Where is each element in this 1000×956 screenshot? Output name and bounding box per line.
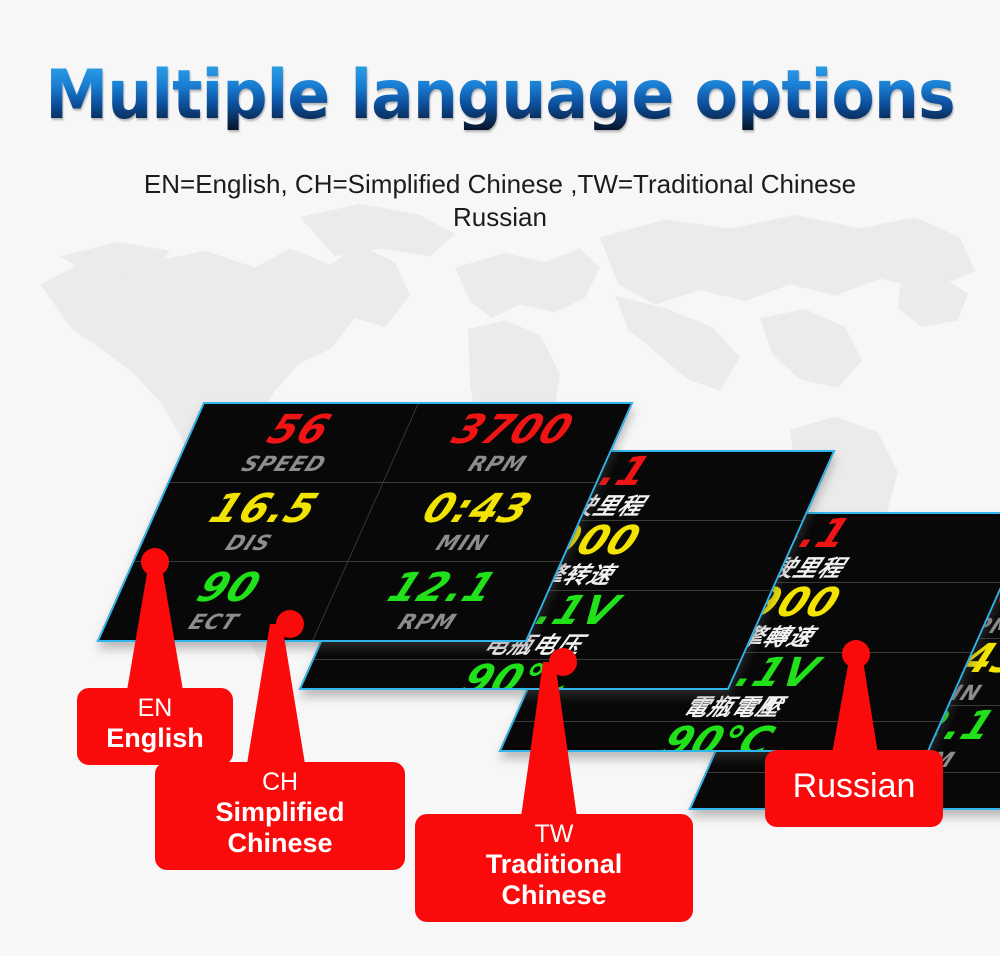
hud-label: RPM (464, 452, 530, 476)
callout-bubble-traditional-chinese[interactable]: TW Traditional Chinese (415, 814, 693, 922)
hud-cell: 0:43MIN (348, 483, 595, 561)
hud-value: 3700 (446, 410, 579, 450)
callout-name-russian: Russian (775, 762, 933, 811)
hud-value: 56 (261, 410, 336, 450)
hud-row: 56SPEED3700RPM (169, 404, 630, 483)
callout-pointer-russian (770, 654, 950, 754)
hud-value: 0:43 (417, 489, 538, 529)
hud-cell: 56SPEED (170, 404, 418, 482)
hud-value: 16.5 (204, 489, 325, 529)
hud-label: MIN (432, 531, 492, 555)
hud-cell: 16.5DIS (135, 483, 383, 561)
callout-name-simplified-chinese: Simplified Chinese (171, 797, 389, 859)
hud-label: SPEED (238, 452, 330, 476)
hud-cell: 3700RPM (383, 404, 630, 482)
callout-pointer-traditional-chinese (425, 662, 705, 817)
hud-row: 16.5DIS0:43MIN (134, 483, 595, 562)
callout-code-traditional-chinese: TW (431, 821, 677, 849)
callout-bubble-simplified-chinese[interactable]: CH Simplified Chinese (155, 762, 405, 870)
callout-code-simplified-chinese: CH (171, 769, 389, 797)
callout-pointer-simplified-chinese (165, 624, 425, 764)
hud-value: 12.1 (382, 568, 503, 608)
hud-label: DIS (222, 531, 276, 555)
callout-name-traditional-chinese: Traditional Chinese (431, 849, 677, 911)
callout-bubble-russian[interactable]: Russian (765, 750, 943, 827)
